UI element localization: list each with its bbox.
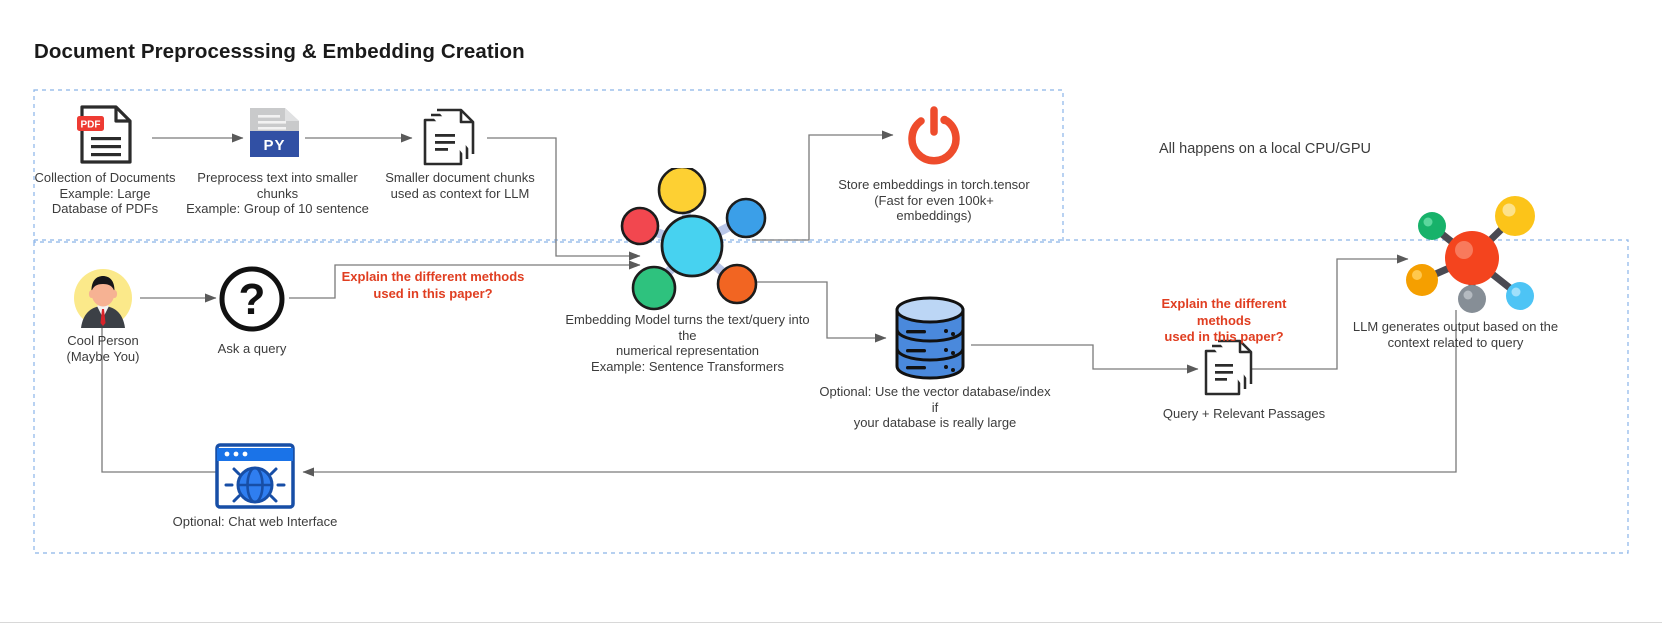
- person-avatar-icon: [73, 268, 133, 328]
- caption-preprocess-python: Preprocess text into smaller chunks Exam…: [180, 170, 375, 217]
- query-text-label-1: Explain the different methods used in th…: [338, 269, 528, 302]
- arrow-database-to-passages: [971, 345, 1198, 369]
- caption-store-embeddings: Store embeddings in torch.tensor (Fast f…: [838, 177, 1030, 224]
- svg-text:PY: PY: [263, 137, 285, 154]
- pytorch-flame-icon: [899, 104, 969, 170]
- pdf-document-icon: PDF: [74, 104, 138, 166]
- caption-document-chunks: Smaller document chunks used as context …: [370, 170, 550, 201]
- browser-globe-icon: [215, 443, 295, 509]
- note-local-cpu-gpu: All happens on a local CPU/GPU: [1100, 141, 1430, 157]
- caption-query-relevant-passages: Query + Relevant Passages: [1155, 406, 1333, 422]
- question-mark-icon: ?: [219, 266, 285, 332]
- node-graph-cyan-icon: [620, 168, 770, 314]
- caption-llm-output: LLM generates output based on the contex…: [1348, 319, 1563, 350]
- caption-vector-database: Optional: Use the vector database/index …: [815, 384, 1055, 431]
- caption-cool-person: Cool Person (Maybe You): [40, 333, 166, 364]
- query-text-label-2: Explain the different methods used in th…: [1135, 296, 1313, 346]
- diagram-canvas: Document Preprocesssing & Embedding Crea…: [0, 0, 1662, 623]
- database-cylinder-icon: [891, 296, 969, 380]
- caption-ask-a-query: Ask a query: [192, 341, 312, 357]
- caption-collection-of-documents: Collection of Documents Example: Large D…: [20, 170, 190, 217]
- stacked-documents-icon: [421, 106, 483, 168]
- python-file-icon: PY: [247, 106, 303, 160]
- node-graph-orange-icon: [1400, 196, 1540, 318]
- svg-text:PDF: PDF: [81, 120, 101, 131]
- caption-chat-web-interface: Optional: Chat web Interface: [165, 514, 345, 530]
- svg-text:?: ?: [239, 275, 266, 324]
- caption-embedding-model: Embedding Model turns the text/query int…: [555, 312, 820, 374]
- stacked-documents-icon-passages: [1203, 338, 1261, 398]
